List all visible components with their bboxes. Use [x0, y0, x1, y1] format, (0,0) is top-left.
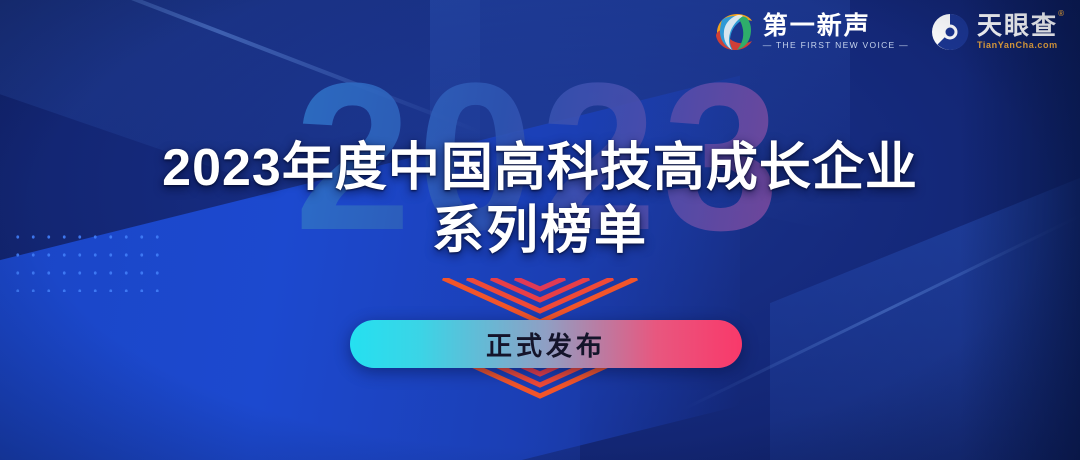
promo-banner: 2023 第一新声 — THE FIRST NEW VOICE — — [0, 0, 1080, 460]
bg-vignette — [0, 0, 1080, 460]
